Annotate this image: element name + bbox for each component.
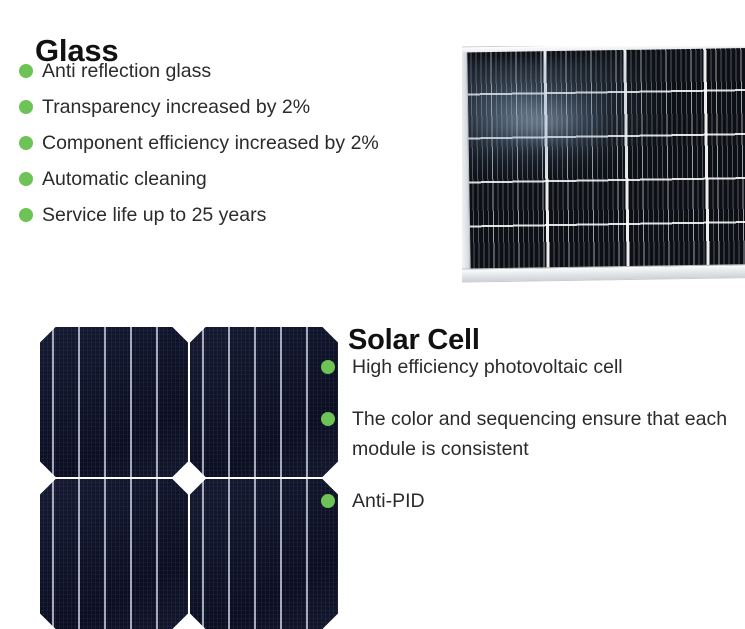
list-item: High efficiency photovoltaic cell (321, 352, 745, 382)
list-item: Component efficiency increased by 2% (19, 128, 419, 158)
list-item: The color and sequencing ensure that eac… (321, 404, 745, 464)
list-item-label: The color and sequencing ensure that eac… (352, 404, 745, 464)
solar-cell-feature-section: Solar Cell High efficiency photovoltaic … (315, 290, 745, 560)
solar-cell-bullet-list: High efficiency photovoltaic cell The co… (321, 352, 745, 538)
module-laminate-area (466, 46, 745, 269)
bullet-dot-icon (321, 412, 335, 426)
list-item-label: Automatic cleaning (42, 164, 419, 194)
solar-module-photo (462, 46, 745, 284)
feature-page: Glass Anti reflection glass Transparency… (0, 0, 745, 623)
list-item: Anti reflection glass (19, 56, 419, 86)
cell-busbar-lines (40, 327, 188, 477)
list-item: Transparency increased by 2% (19, 92, 419, 122)
bullet-dot-icon (19, 100, 33, 114)
solar-cell-bottom-left (40, 479, 188, 629)
bullet-dot-icon (321, 494, 335, 508)
solar-cells-photo (40, 327, 338, 629)
list-item-label: Service life up to 25 years (42, 200, 419, 230)
solar-cells-grid (40, 327, 338, 629)
module-photo-tilt-wrapper (462, 46, 745, 283)
bullet-dot-icon (19, 172, 33, 186)
glass-feature-section: Glass Anti reflection glass Transparency… (0, 0, 420, 280)
bullet-dot-icon (19, 64, 33, 78)
list-item-label: High efficiency photovoltaic cell (352, 352, 745, 382)
list-item: Anti-PID (321, 486, 745, 516)
module-aluminium-frame (462, 46, 745, 283)
list-item: Automatic cleaning (19, 164, 419, 194)
glass-bullet-list: Anti reflection glass Transparency incre… (19, 56, 419, 236)
list-item-label: Anti-PID (352, 486, 745, 516)
list-item-label: Component efficiency increased by 2% (42, 128, 419, 158)
solar-cell-top-left (40, 327, 188, 477)
bullet-dot-icon (19, 136, 33, 150)
bullet-dot-icon (19, 208, 33, 222)
list-item-label: Transparency increased by 2% (42, 92, 419, 122)
cell-busbar-lines (40, 479, 188, 629)
glass-reflection-highlight (473, 93, 602, 152)
bullet-dot-icon (321, 360, 335, 374)
list-item: Service life up to 25 years (19, 200, 419, 230)
list-item-label: Anti reflection glass (42, 56, 419, 86)
